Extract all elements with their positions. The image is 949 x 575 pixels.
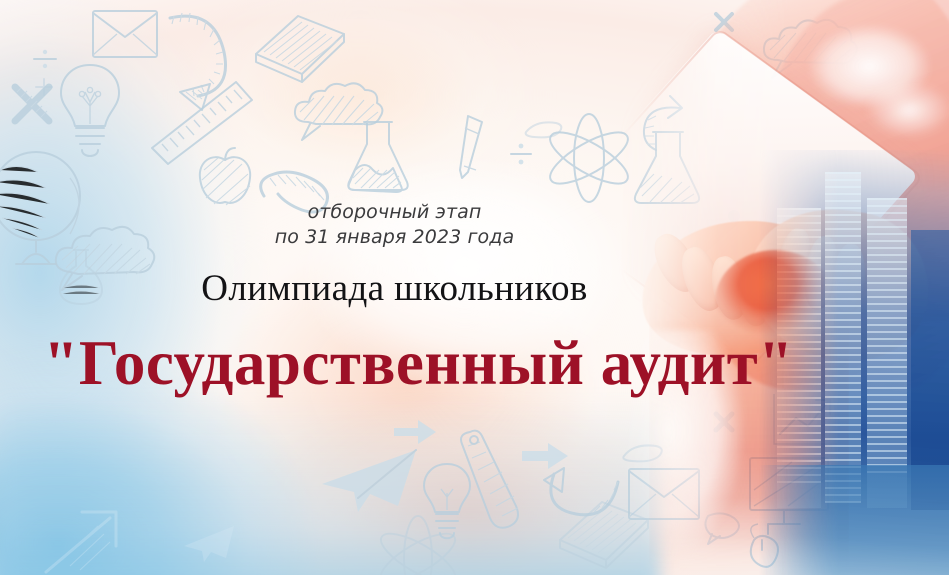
event-title: "Государственный аудит" <box>0 325 949 401</box>
subtitle-line-1: отборочный этап <box>0 200 789 225</box>
subtitle-line-2: по 31 января 2023 года <box>0 225 789 250</box>
event-headline: Олимпиада школьников <box>0 267 949 311</box>
event-stage-subtitle: отборочный этап по 31 января 2023 года <box>0 200 949 250</box>
text-layer: отборочный этап по 31 января 2023 года О… <box>0 0 949 575</box>
olympiad-promo-banner: отборочный этап по 31 января 2023 года О… <box>0 0 949 575</box>
